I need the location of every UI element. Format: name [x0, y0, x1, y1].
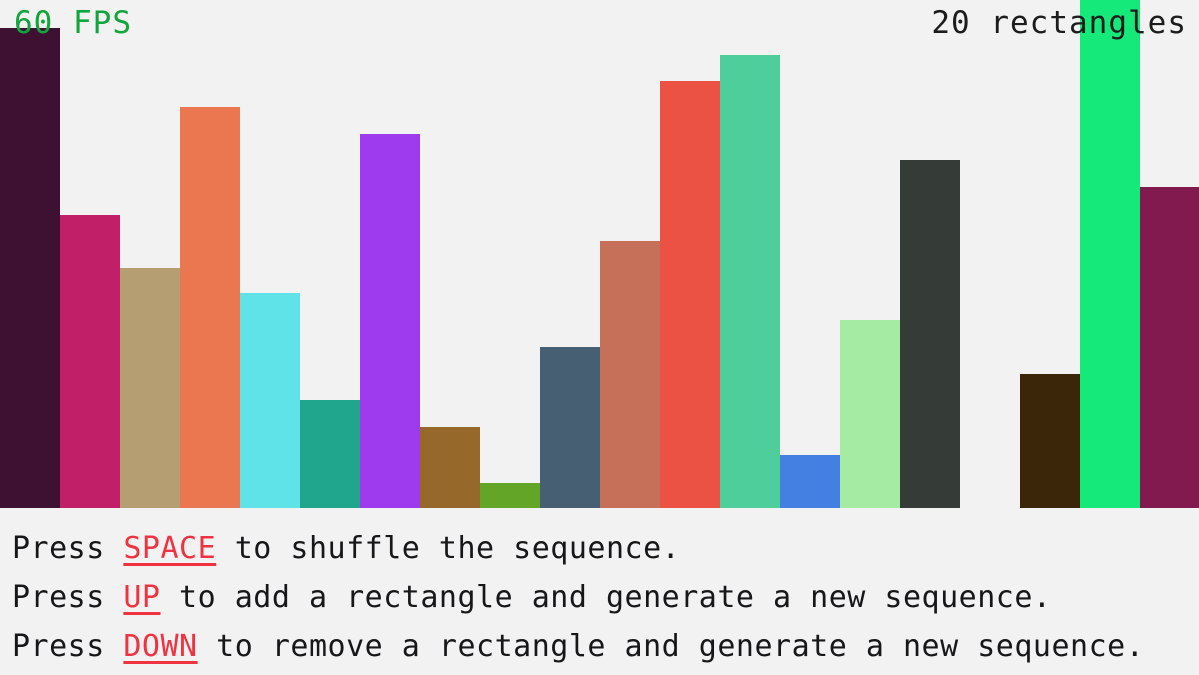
rectangle-bar: [1020, 374, 1080, 508]
rectangle-bar: [600, 241, 660, 508]
key-hint-up[interactable]: UP: [123, 580, 160, 615]
rectangle-bar: [300, 400, 360, 508]
key-hint-space[interactable]: SPACE: [123, 531, 216, 566]
rectangle-bar: [0, 28, 60, 508]
instruction-line: Press SPACE to shuffle the sequence.: [12, 524, 1199, 573]
rectangle-bar: [540, 347, 600, 508]
instruction-suffix: to shuffle the sequence.: [216, 531, 680, 566]
rectangle-bar: [1140, 187, 1199, 508]
rectangle-bar: [840, 320, 900, 508]
rectangle-bar: [420, 427, 480, 508]
rectangle-bar: [240, 293, 300, 508]
rectangle-bar: [780, 455, 840, 508]
rectangle-bar: [360, 134, 420, 508]
instruction-prefix: Press: [12, 531, 123, 566]
rectangle-bar: [900, 160, 960, 508]
instruction-suffix: to add a rectangle and generate a new se…: [161, 580, 1052, 615]
rectangle-bar: [1080, 0, 1140, 508]
instructions-panel: Press SPACE to shuffle the sequence.Pres…: [0, 510, 1199, 675]
rectangle-bar: [180, 107, 240, 508]
rectangle-canvas[interactable]: [0, 0, 1199, 510]
fps-counter: 60 FPS: [14, 8, 132, 39]
rectangle-bar: [660, 81, 720, 508]
instruction-suffix: to remove a rectangle and generate a new…: [198, 629, 1145, 664]
rectangle-bar: [60, 215, 120, 508]
app-root: 60 FPS 20 rectangles Press SPACE to shuf…: [0, 0, 1199, 675]
instruction-prefix: Press: [12, 629, 123, 664]
rectangle-bar: [120, 268, 180, 508]
key-hint-down[interactable]: DOWN: [123, 629, 197, 664]
rectangle-bar: [480, 483, 540, 508]
rectangle-bar: [720, 55, 780, 508]
instruction-line: Press UP to add a rectangle and generate…: [12, 573, 1199, 622]
instruction-line: Press DOWN to remove a rectangle and gen…: [12, 622, 1199, 671]
rectangle-count-label: 20 rectangles: [931, 8, 1187, 39]
instruction-prefix: Press: [12, 580, 123, 615]
